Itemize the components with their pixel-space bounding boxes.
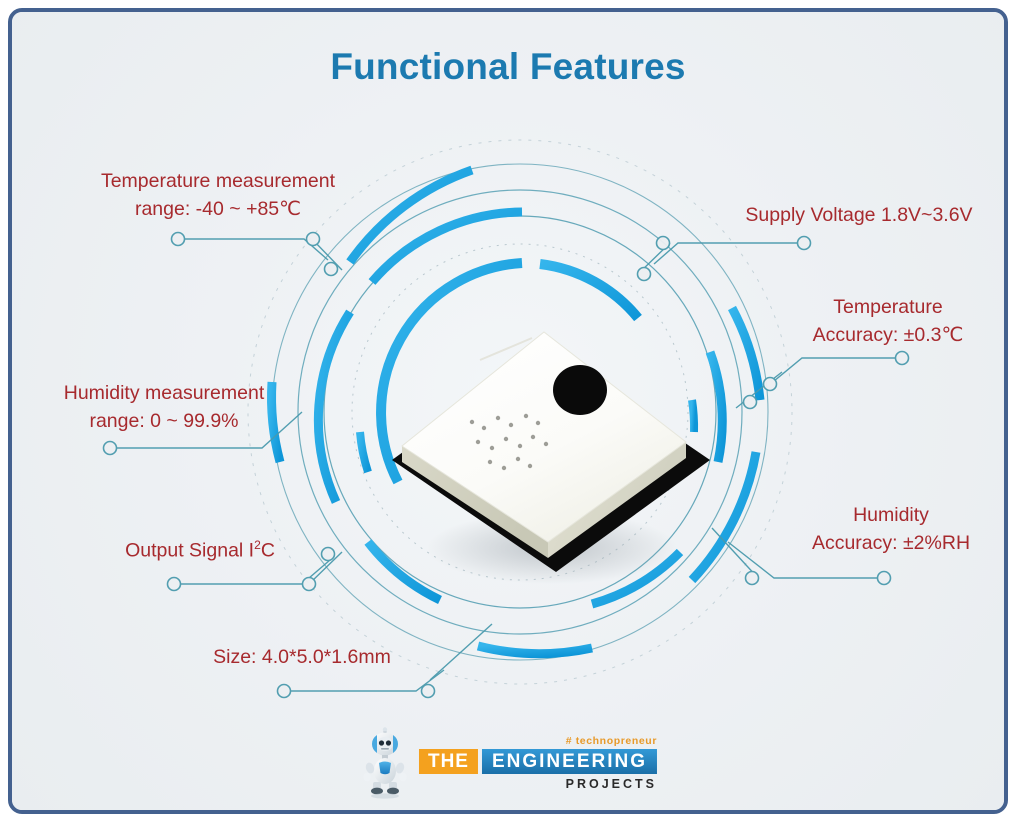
label-size-line1: Size: 4.0*5.0*1.6mm <box>184 644 420 672</box>
robot-mascot-icon <box>359 727 411 799</box>
label-supply-voltage-line1: Supply Voltage 1.8V~3.6V <box>706 202 1008 230</box>
label-humidity-accuracy-line2: Accuracy: ±2%RH <box>776 530 1006 558</box>
connector-temperature-range <box>172 233 343 276</box>
label-humidity-range: Humidity measurement range: 0 ~ 99.9% <box>28 380 300 435</box>
label-temperature-range-line1: Temperature measurement <box>60 168 376 196</box>
logo-wordmark: THE ENGINEERING <box>419 749 657 774</box>
label-humidity-accuracy: Humidity Accuracy: ±2%RH <box>776 502 1006 557</box>
connector-temperature-accuracy <box>736 352 909 409</box>
label-output-signal-post: C <box>261 540 275 562</box>
connector-supply-voltage <box>638 237 811 281</box>
label-temperature-accuracy-line2: Accuracy: ±0.3℃ <box>780 322 996 350</box>
label-size: Size: 4.0*5.0*1.6mm <box>184 644 420 672</box>
logo-the: THE <box>419 749 478 774</box>
logo-projects: PROJECTS <box>566 777 657 791</box>
infographic-frame: Functional Features <box>8 8 1008 814</box>
label-humidity-range-line1: Humidity measurement <box>28 380 300 408</box>
logo-text-block: # technopreneur THE ENGINEERING PROJECTS <box>419 735 657 791</box>
label-output-signal-pre: Output Signal I <box>125 540 254 562</box>
logo-engineering: ENGINEERING <box>482 749 657 774</box>
label-output-signal: Output Signal I2C <box>94 537 306 565</box>
label-temperature-range: Temperature measurement range: -40 ~ +85… <box>60 168 376 223</box>
label-temperature-range-line2: range: -40 ~ +85℃ <box>60 196 376 224</box>
label-humidity-range-line2: range: 0 ~ 99.9% <box>28 408 300 436</box>
label-supply-voltage: Supply Voltage 1.8V~3.6V <box>706 202 1008 230</box>
label-temperature-accuracy: Temperature Accuracy: ±0.3℃ <box>780 294 996 349</box>
label-output-signal-line1: Output Signal I2C <box>94 537 306 565</box>
label-humidity-accuracy-line1: Humidity <box>776 502 1006 530</box>
label-output-signal-sup: 2 <box>254 538 261 552</box>
label-temperature-accuracy-line1: Temperature <box>780 294 996 322</box>
logo-tagline: # technopreneur <box>566 735 657 747</box>
site-logo[interactable]: # technopreneur THE ENGINEERING PROJECTS <box>359 724 657 802</box>
